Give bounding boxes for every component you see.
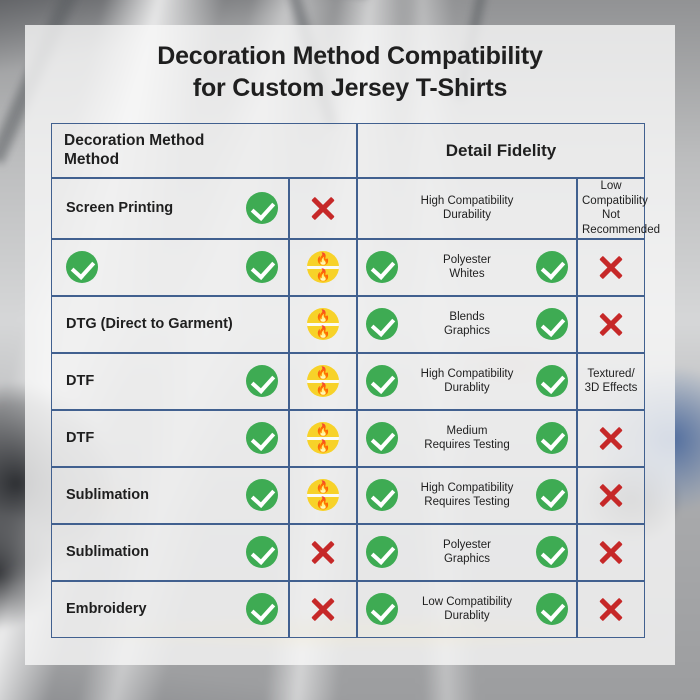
cell-heat-sublimation-1[interactable]: 🔥 🔥 — [289, 467, 357, 524]
cell-method-dtf-2[interactable]: DTF — [51, 410, 289, 467]
table-row[interactable]: Embroidery Low Compatibility — [51, 581, 645, 638]
cell-method-sublimation-1[interactable]: Sublimation — [51, 467, 289, 524]
table-row[interactable]: Screen Printing High Compatibility Durab… — [51, 178, 645, 239]
cell-method-sublimation-2[interactable]: Sublimation — [51, 524, 289, 581]
header-right-label: Detail Fidelity — [370, 141, 632, 161]
table-header-row: Decoration Method Method Detail Fidelity — [51, 123, 645, 178]
infographic-root: Decoration Method Compatibility for Cust… — [0, 0, 700, 700]
cell-note-sublimation-2[interactable] — [577, 524, 645, 581]
method-label: Embroidery — [66, 601, 147, 617]
table-row[interactable]: Sublimation 🔥 🔥 — [51, 467, 645, 524]
cell-heat-dtf-2[interactable]: 🔥 🔥 — [289, 410, 357, 467]
cell-heat-sublimation-2[interactable] — [289, 524, 357, 581]
method-label: DTF — [66, 430, 94, 446]
cell-fidelity-dtf-1[interactable]: High Compatibility Durablity — [357, 353, 577, 410]
fidelity-text: Blends Graphics — [398, 310, 536, 339]
red-x-icon — [595, 479, 627, 511]
check-circle-icon — [366, 593, 398, 625]
fidelity-line-2: Graphics — [402, 552, 532, 567]
method-label: DTF — [66, 373, 94, 389]
cell-note-screen-printing[interactable]: Low Compatibility Not Recommended — [577, 178, 645, 239]
red-x-icon — [595, 536, 627, 568]
heat-flame-icon: 🔥 🔥 — [307, 251, 339, 283]
title-line-2: for Custom Jersey T-Shirts — [25, 73, 675, 105]
fidelity-line-2: Durablity — [402, 609, 532, 624]
check-circle-icon — [366, 365, 398, 397]
check-circle-icon — [536, 593, 568, 625]
table-row[interactable]: Sublimation Polyester — [51, 524, 645, 581]
check-circle-icon — [366, 422, 398, 454]
compatibility-table: Decoration Method Method Detail Fidelity… — [51, 123, 645, 638]
cell-heat-embroidery[interactable] — [289, 581, 357, 638]
note-line-2: Not Recommended — [582, 208, 640, 237]
heat-flame-icon: 🔥 🔥 — [307, 479, 339, 511]
fidelity-line-1: Polyester — [402, 253, 532, 268]
fidelity-text: High Compatibility Requires Testing — [398, 481, 536, 510]
fidelity-text: Low Compatibility Durablity — [398, 595, 536, 624]
fidelity-line-2: Requires Testing — [402, 495, 532, 510]
fidelity-text: Polyester Graphics — [398, 538, 536, 567]
red-x-icon — [307, 536, 339, 568]
cell-note-embroidery[interactable] — [577, 581, 645, 638]
fidelity-text: High Compatibility Durablity — [398, 367, 536, 396]
header-cell-detail-fidelity: Detail Fidelity — [357, 123, 645, 178]
check-circle-icon — [536, 365, 568, 397]
check-circle-icon — [246, 536, 278, 568]
cell-fidelity-embroidery[interactable]: Low Compatibility Durablity — [357, 581, 577, 638]
compatibility-table-wrapper: Decoration Method Method Detail Fidelity… — [51, 123, 645, 638]
fidelity-line-1: Medium — [402, 424, 532, 439]
fidelity-line-2: Requires Testing — [402, 438, 532, 453]
cell-note-dtf-2[interactable] — [577, 410, 645, 467]
cell-fidelity-dtf-2[interactable]: Medium Requires Testing — [357, 410, 577, 467]
note-line-1: Textured/ — [582, 367, 640, 382]
check-circle-icon — [366, 308, 398, 340]
header-cell-decoration-method: Decoration Method Method — [51, 123, 357, 178]
cell-heat-screen-printing[interactable] — [289, 178, 357, 239]
cell-note-dtg[interactable] — [577, 296, 645, 353]
fidelity-line-2: Graphics — [402, 324, 532, 339]
heat-flame-icon: 🔥 🔥 — [307, 308, 339, 340]
red-x-icon — [595, 422, 627, 454]
method-label: DTG (Direct to Garment) — [66, 316, 233, 332]
method-label: Sublimation — [66, 544, 149, 560]
red-x-icon — [307, 192, 339, 224]
table-row[interactable]: DTF 🔥 🔥 — [51, 410, 645, 467]
page-title: Decoration Method Compatibility for Cust… — [25, 25, 675, 104]
check-circle-icon — [366, 251, 398, 283]
fidelity-line-2: Durablity — [402, 381, 532, 396]
check-circle-icon — [246, 479, 278, 511]
check-circle-icon — [366, 536, 398, 568]
fidelity-line-1: High Compatibility — [402, 367, 532, 382]
red-x-icon — [595, 308, 627, 340]
method-label: Sublimation — [66, 487, 149, 503]
fidelity-line-1: High Compatibility — [362, 194, 572, 209]
cell-method-embroidery[interactable]: Embroidery — [51, 581, 289, 638]
cell-method-unlabeled[interactable] — [51, 239, 289, 296]
cell-fidelity-dtg[interactable]: Blends Graphics — [357, 296, 577, 353]
table-row[interactable]: DTG (Direct to Garment) 🔥 🔥 — [51, 296, 645, 353]
cell-heat-dtg[interactable]: 🔥 🔥 — [289, 296, 357, 353]
method-label: Screen Printing — [66, 200, 173, 216]
fidelity-line-2: Durability — [362, 208, 572, 223]
check-circle-icon — [536, 308, 568, 340]
table-row[interactable]: 🔥 🔥 Polyester Whites — [51, 239, 645, 296]
header-left-line-1: Decoration Method — [64, 132, 344, 150]
check-circle-icon — [536, 536, 568, 568]
check-circle-icon — [246, 365, 278, 397]
check-circle-icon — [536, 251, 568, 283]
cell-note-unlabeled[interactable] — [577, 239, 645, 296]
red-x-icon — [595, 251, 627, 283]
cell-fidelity-sublimation-2[interactable]: Polyester Graphics — [357, 524, 577, 581]
cell-fidelity-unlabeled[interactable]: Polyester Whites — [357, 239, 577, 296]
check-circle-icon — [66, 251, 98, 283]
red-x-icon — [595, 593, 627, 625]
cell-note-dtf-1[interactable]: Textured/ 3D Effects — [577, 353, 645, 410]
heat-flame-icon: 🔥 🔥 — [307, 422, 339, 454]
cell-method-dtg[interactable]: DTG (Direct to Garment) — [51, 296, 289, 353]
check-circle-icon — [246, 192, 278, 224]
check-circle-icon — [246, 251, 278, 283]
cell-heat-unlabeled[interactable]: 🔥 🔥 — [289, 239, 357, 296]
cell-fidelity-screen-printing[interactable]: High Compatibility Durability — [357, 178, 577, 239]
cell-method-screen-printing[interactable]: Screen Printing — [51, 178, 289, 239]
content-card: Decoration Method Compatibility for Cust… — [25, 25, 675, 665]
note-line-1: Low Compatibility — [582, 179, 640, 208]
fidelity-text: Medium Requires Testing — [398, 424, 536, 453]
check-circle-icon — [536, 479, 568, 511]
fidelity-line-1: Polyester — [402, 538, 532, 553]
check-circle-icon — [536, 422, 568, 454]
fidelity-line-2: Whites — [402, 267, 532, 282]
note-line-2: 3D Effects — [582, 381, 640, 396]
cell-method-dtf-1[interactable]: DTF — [51, 353, 289, 410]
check-circle-icon — [366, 479, 398, 511]
heat-flame-icon: 🔥 🔥 — [307, 365, 339, 397]
table-row[interactable]: DTF 🔥 🔥 — [51, 353, 645, 410]
title-line-1: Decoration Method Compatibility — [25, 41, 675, 73]
cell-note-sublimation-1[interactable] — [577, 467, 645, 524]
check-circle-icon — [246, 593, 278, 625]
fidelity-line-1: High Compatibility — [402, 481, 532, 496]
check-circle-icon — [246, 422, 278, 454]
header-left-line-2: Method — [64, 151, 344, 169]
fidelity-text: Polyester Whites — [398, 253, 536, 282]
fidelity-line-1: Blends — [402, 310, 532, 325]
cell-fidelity-sublimation-1[interactable]: High Compatibility Requires Testing — [357, 467, 577, 524]
fidelity-line-1: Low Compatibility — [402, 595, 532, 610]
red-x-icon — [307, 593, 339, 625]
cell-heat-dtf-1[interactable]: 🔥 🔥 — [289, 353, 357, 410]
